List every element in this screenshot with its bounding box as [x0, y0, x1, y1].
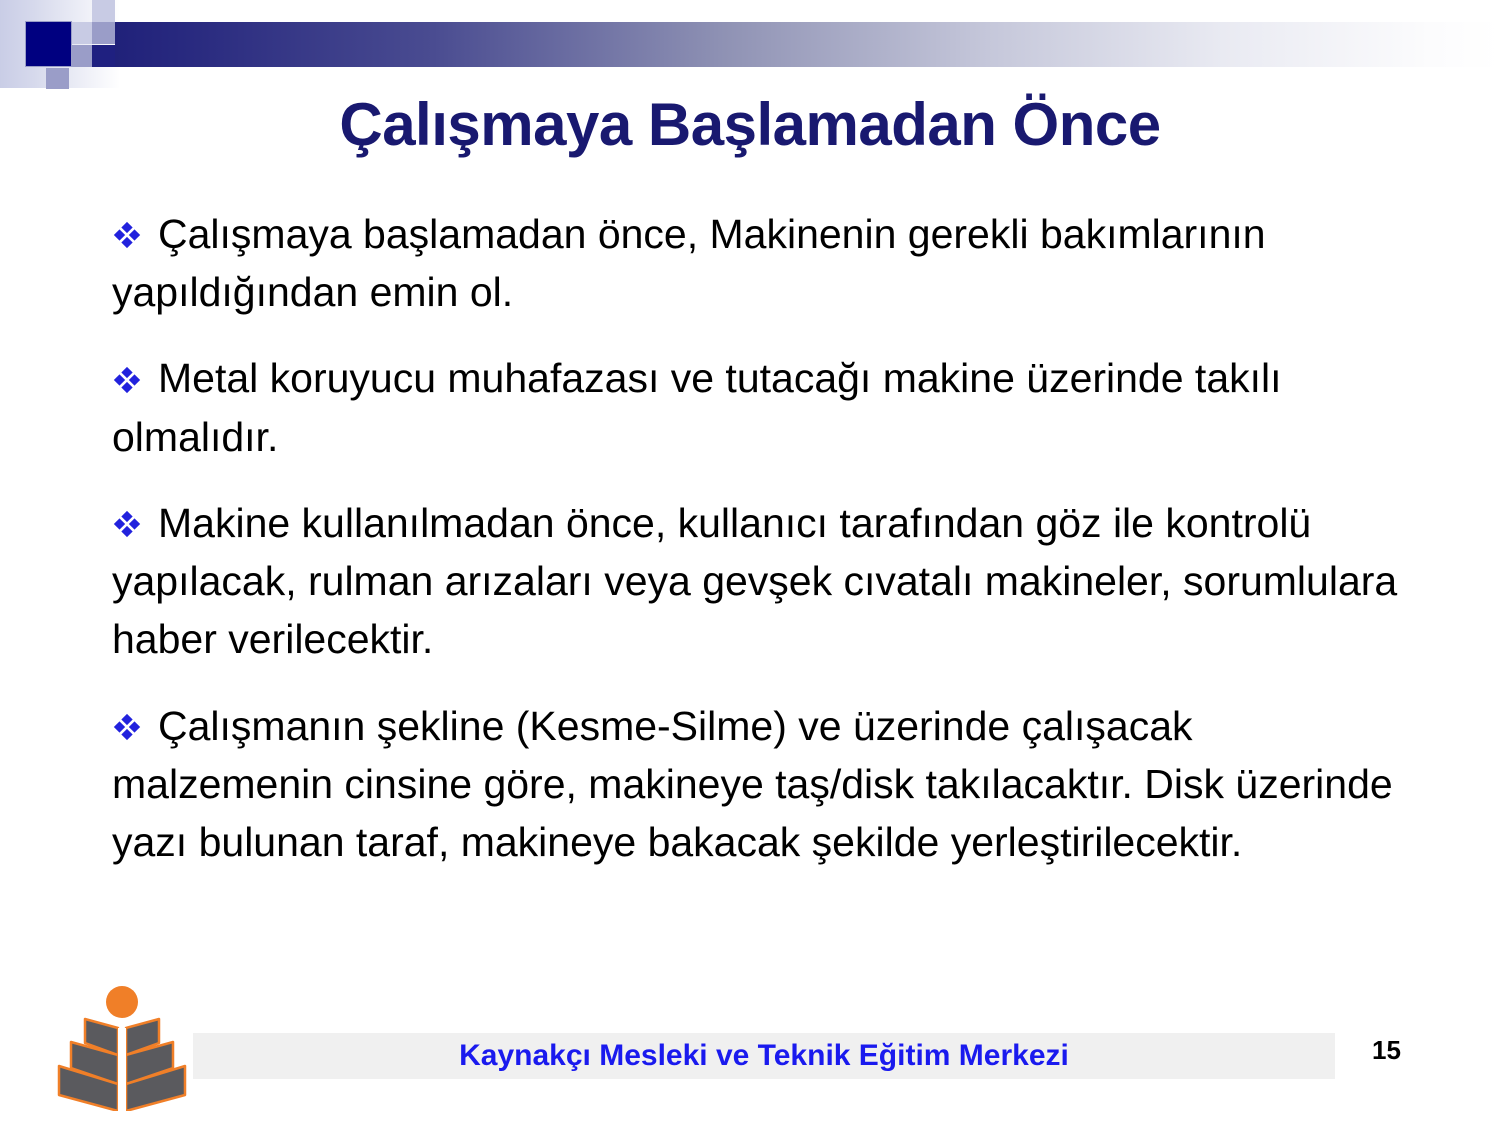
- diamond-cluster-bullet-icon: [112, 695, 158, 753]
- footer-bar: Kaynakçı Mesleki ve Teknik Eğitim Merkez…: [193, 1033, 1335, 1079]
- bullet-item: Çalışmanın şekline (Kesme-Silme) ve üzer…: [112, 697, 1422, 872]
- wheat-book-emblem-logo-icon: [57, 983, 187, 1111]
- bullet-item-text: Çalışmaya başlamadan önce, Makinenin ger…: [112, 211, 1266, 315]
- bullet-item-text: Makine kullanılmadan önce, kullanıcı tar…: [112, 500, 1397, 662]
- bullet-item-text: Metal koruyucu muhafazası ve tutacağı ma…: [112, 355, 1282, 459]
- footer-organization-label: Kaynakçı Mesleki ve Teknik Eğitim Merkez…: [193, 1033, 1335, 1079]
- slide-footer: Kaynakçı Mesleki ve Teknik Eğitim Merkez…: [0, 965, 1500, 1125]
- page-title: Çalışmaya Başlamadan Önce: [0, 93, 1500, 156]
- header-square-navy-accent: [26, 22, 71, 66]
- header-decoration: [0, 0, 1500, 95]
- header-gradient-bar: [115, 22, 1500, 67]
- diamond-cluster-bullet-icon: [112, 492, 158, 550]
- header-square-light-midleft: [69, 22, 92, 44]
- header-square-navy-lowerright: [92, 45, 115, 67]
- header-square-light-top: [92, 0, 115, 22]
- bullet-list: Çalışmaya başlamadan önce, Makinenin ger…: [112, 205, 1422, 871]
- header-square-mid-lowercenter: [69, 45, 92, 67]
- bullet-item: Makine kullanılmadan önce, kullanıcı tar…: [112, 494, 1422, 669]
- header-square-mid-bottom: [46, 68, 69, 89]
- diamond-cluster-bullet-icon: [112, 203, 158, 261]
- bullet-item-text: Çalışmanın şekline (Kesme-Silme) ve üzer…: [112, 703, 1393, 865]
- bullet-item: Çalışmaya başlamadan önce, Makinenin ger…: [112, 205, 1422, 321]
- header-square-mid-midright: [92, 22, 115, 44]
- page-number: 15: [1372, 1035, 1401, 1066]
- diamond-cluster-bullet-icon: [112, 347, 158, 405]
- bullet-item: Metal koruyucu muhafazası ve tutacağı ma…: [112, 349, 1422, 465]
